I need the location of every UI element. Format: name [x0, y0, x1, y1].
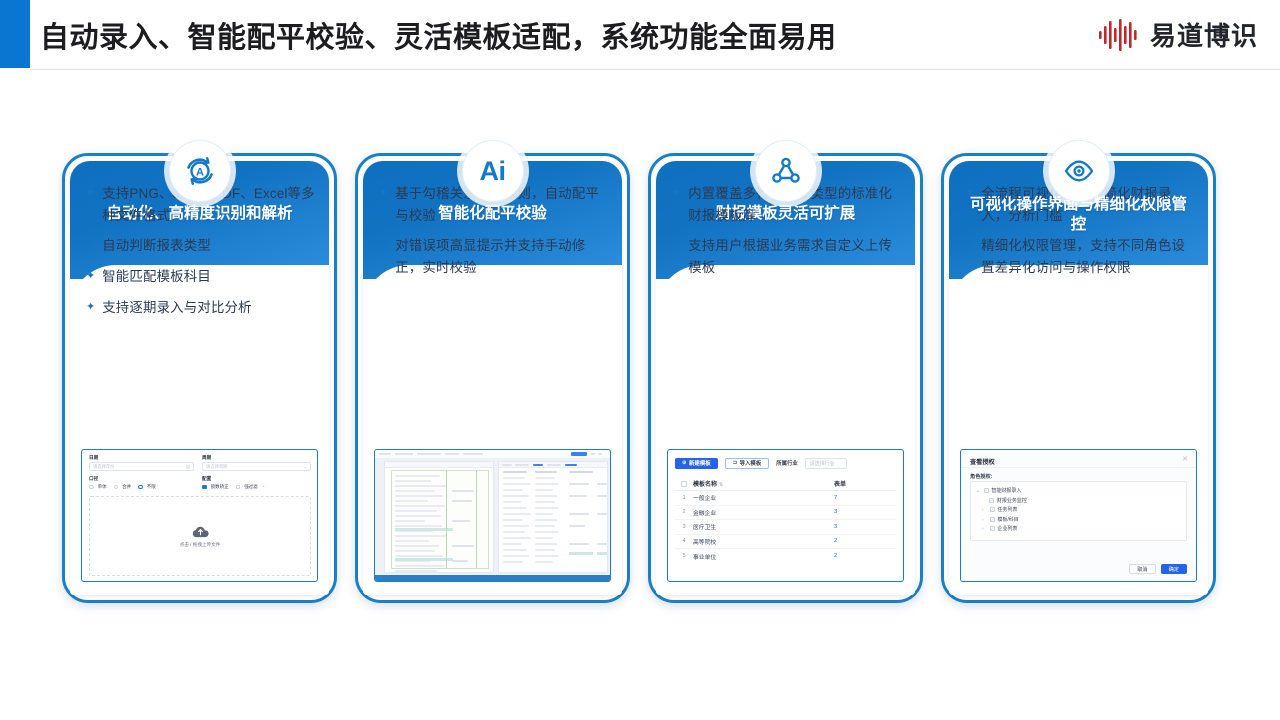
list-item: ✦ 对错误项高显提示并支持手动修正，实时校验 [379, 235, 611, 278]
dialog-title: 查看授权 [970, 457, 995, 466]
card-screenshot-upload-form: 日期 请选择年份 ▤ 周期 请选择周期 ⌄ [81, 449, 318, 582]
list-item: ✦ 支持逐期录入与对比分析 [86, 297, 318, 319]
role-permission-label: 角色授权: [970, 473, 992, 480]
chevron-right-icon[interactable]: › [982, 507, 987, 512]
bullet-text: 智能匹配模板科目 [102, 266, 211, 288]
diamond-bullet-icon: ✦ [965, 183, 974, 203]
card-surface: 自动化、高精度识别和解析 ✦ 支持PNG、JPG、PDF、Excel等多种文件格… [70, 161, 329, 595]
file-dropzone[interactable]: 点击 / 拖拽上传文件 [89, 496, 311, 576]
diamond-bullet-icon: ✦ [965, 235, 974, 255]
list-item: ✦ 精细化权限管理，支持不同角色设置差异化访问与操作权限 [965, 235, 1197, 278]
table-row[interactable]: 5 事业单位 2 [675, 549, 896, 564]
compare-panes [375, 459, 610, 575]
close-icon[interactable]: ✕ [1182, 456, 1188, 463]
share-nodes-icon [755, 140, 817, 202]
period-select[interactable]: 请选择周期 ⌄ [202, 462, 311, 471]
slide-header: 自动录入、智能配平校验、灵活模板适配，系统功能全面易用 易道博识 [0, 0, 1280, 70]
checkbox-unchecked[interactable] [236, 485, 241, 490]
feature-card-1: 自动化、高精度识别和解析 ✦ 支持PNG、JPG、PDF、Excel等多种文件格… [62, 140, 337, 603]
card-surface: 可视化操作界面与精细化权限管控 ✦ 全流程可视化操作，简化财报录入，分析门槛 ✦… [949, 161, 1208, 595]
waveform-logo-icon [1098, 17, 1140, 53]
source-image-pane [384, 461, 494, 573]
parsed-table-pane [498, 461, 608, 573]
import-template-button[interactable]: ⊐ 导入模板 [725, 458, 770, 469]
table-row[interactable]: 1 一般企业 7 [675, 491, 896, 506]
tree-node-child[interactable]: › ✓ 模板/科目 [976, 515, 1181, 525]
bullet-text: 支持用户根据业务需求自定义上传模板 [688, 235, 904, 278]
config-checkbox-group[interactable]: 锁数矫正 强过滤 ◔ [202, 484, 265, 490]
date-input[interactable]: 请选择年份 ▤ [89, 462, 194, 471]
import-icon: ⊐ [733, 460, 738, 466]
chevron-down-icon[interactable]: ⌄ [976, 488, 981, 494]
confirm-button[interactable]: 确定 [1161, 564, 1187, 574]
svg-text:A: A [196, 166, 204, 178]
column-header-name[interactable]: 模板名称⇅ [693, 479, 834, 488]
diamond-bullet-icon: ✦ [379, 235, 388, 255]
brand-logo: 易道博识 [1098, 16, 1258, 53]
checkbox-checked[interactable] [202, 485, 207, 490]
header-accent-bar [0, 0, 30, 68]
eye-icon [1048, 140, 1110, 202]
field-label-period: 周期 [202, 455, 211, 461]
bullet-text: 对错误项高显提示并支持手动修正，实时校验 [395, 235, 611, 278]
card-surface: 智能化配平校验 ✦ 基于勾稽关系校验规则，自动配平与校验 ✦ 对错误项高显提示并… [363, 161, 622, 595]
tree-node-child[interactable]: › ✓ 企业列表 [976, 524, 1181, 534]
diamond-bullet-icon: ✦ [86, 266, 95, 286]
chevron-down-icon: ⌄ [303, 464, 307, 470]
radio-unselected[interactable] [89, 485, 94, 490]
ai-icon: Ai [462, 140, 524, 202]
status-bar [375, 575, 610, 581]
bullet-text: 自动判断报表类型 [102, 235, 211, 257]
page-title: 自动录入、智能配平校验、灵活模板适配，系统功能全面易用 [40, 14, 837, 56]
checkbox-checked[interactable]: ✓ [989, 498, 994, 503]
brand-name: 易道博识 [1150, 16, 1258, 53]
tree-node-child[interactable]: › ✓ 任务列表 [976, 505, 1181, 515]
diamond-bullet-icon: ✦ [379, 183, 388, 203]
checkbox-checked[interactable]: ✓ [990, 517, 995, 522]
diamond-bullet-icon: ✦ [86, 297, 95, 317]
auto-refresh-a-icon: A [169, 140, 231, 202]
industry-filter-select[interactable]: 请选择行业 [805, 458, 847, 469]
dialog-divider [961, 467, 1196, 468]
warning-icon: ◔ [262, 484, 265, 490]
table-row[interactable]: 3 医疗卫生 3 [675, 520, 896, 535]
industry-filter-label: 所属行业 [776, 459, 798, 467]
diamond-bullet-icon: ✦ [672, 183, 681, 203]
sort-icon[interactable]: ⇅ [719, 482, 723, 488]
card-surface: 财报模板灵活可扩展 ✦ 内置覆盖多行业、多类型的标准化财报模板库 ✦ 支持用户根… [656, 161, 915, 595]
list-item: ✦ 自动判断报表类型 [86, 235, 318, 257]
permission-tree: ⌄ ✓ 智能财报录入 ✓ 财报业务监控 › ✓ 任务列表 [970, 481, 1187, 541]
radio-unselected[interactable] [114, 485, 119, 490]
card-screenshot-spreadsheet-compare [374, 449, 611, 582]
tree-node-root[interactable]: ⌄ ✓ 智能财报录入 [976, 486, 1181, 496]
checkbox-checked[interactable]: ✓ [990, 507, 995, 512]
radio-selected[interactable] [138, 485, 143, 490]
table-row[interactable]: 2 金融企业 3 [675, 506, 896, 521]
caliber-radio-group[interactable]: 单体 合并 不限 [89, 484, 156, 490]
cloud-upload-icon [192, 525, 209, 538]
field-label-date: 日期 [89, 455, 98, 461]
slide-root: 自动录入、智能配平校验、灵活模板适配，系统功能全面易用 易道博识 [0, 0, 1280, 720]
table-row[interactable]: 4 高等院校 2 [675, 535, 896, 550]
create-template-button[interactable]: ⊕ 新建模板 [675, 458, 718, 469]
feature-card-row: 自动化、高精度识别和解析 ✦ 支持PNG、JPG、PDF、Excel等多种文件格… [0, 140, 1280, 610]
header-divider [30, 69, 1280, 70]
column-header-forms: 表单 [834, 479, 896, 488]
bullet-text: 支持逐期录入与对比分析 [102, 297, 252, 319]
diamond-bullet-icon: ✦ [86, 235, 95, 255]
cancel-button[interactable]: 取消 [1129, 564, 1155, 574]
checkbox-checked[interactable]: ✓ [984, 488, 989, 493]
card-screenshot-template-table: ⊕ 新建模板 ⊐ 导入模板 所属行业 请选择行业 [667, 449, 904, 582]
list-item: ✦ 支持用户根据业务需求自定义上传模板 [672, 235, 904, 278]
feature-card-4: 可视化操作界面与精细化权限管控 ✦ 全流程可视化操作，简化财报录入，分析门槛 ✦… [941, 140, 1216, 603]
toolbar-strip [375, 450, 610, 459]
group-label-caliber: 口径 [89, 476, 98, 482]
card-bullet-list: ✦ 支持PNG、JPG、PDF、Excel等多种文件格式 ✦ 自动判断报表类型 … [86, 183, 318, 328]
dropzone-label: 点击 / 拖拽上传文件 [180, 542, 221, 548]
bullet-text: 精细化权限管理，支持不同角色设置差异化访问与操作权限 [981, 235, 1197, 278]
select-all-checkbox[interactable] [681, 481, 687, 487]
diamond-bullet-icon: ✦ [86, 183, 95, 203]
table-header-row: 模板名称⇅ 表单 [675, 477, 896, 491]
calendar-icon: ▤ [186, 464, 190, 470]
table-toolbar: ⊕ 新建模板 ⊐ 导入模板 所属行业 请选择行业 [668, 450, 903, 476]
plus-circle-icon: ⊕ [682, 460, 687, 466]
chevron-right-icon[interactable]: › [982, 526, 987, 531]
diamond-bullet-icon: ✦ [672, 235, 681, 255]
card-screenshot-permission-dialog: 查看授权 ✕ 角色授权: ⌄ ✓ 智能财报录入 ✓ [960, 449, 1197, 582]
group-label-config: 配置 [202, 476, 211, 482]
list-item: ✦ 智能匹配模板科目 [86, 266, 318, 288]
tree-node-child[interactable]: ✓ 财报业务监控 [976, 496, 1181, 506]
dialog-actions: 取消 确定 [1129, 564, 1187, 574]
feature-card-3: 财报模板灵活可扩展 ✦ 内置覆盖多行业、多类型的标准化财报模板库 ✦ 支持用户根… [648, 140, 923, 603]
chevron-right-icon[interactable]: › [982, 517, 987, 522]
checkbox-checked[interactable]: ✓ [990, 526, 995, 531]
feature-card-2: 智能化配平校验 ✦ 基于勾稽关系校验规则，自动配平与校验 ✦ 对错误项高显提示并… [355, 140, 630, 603]
